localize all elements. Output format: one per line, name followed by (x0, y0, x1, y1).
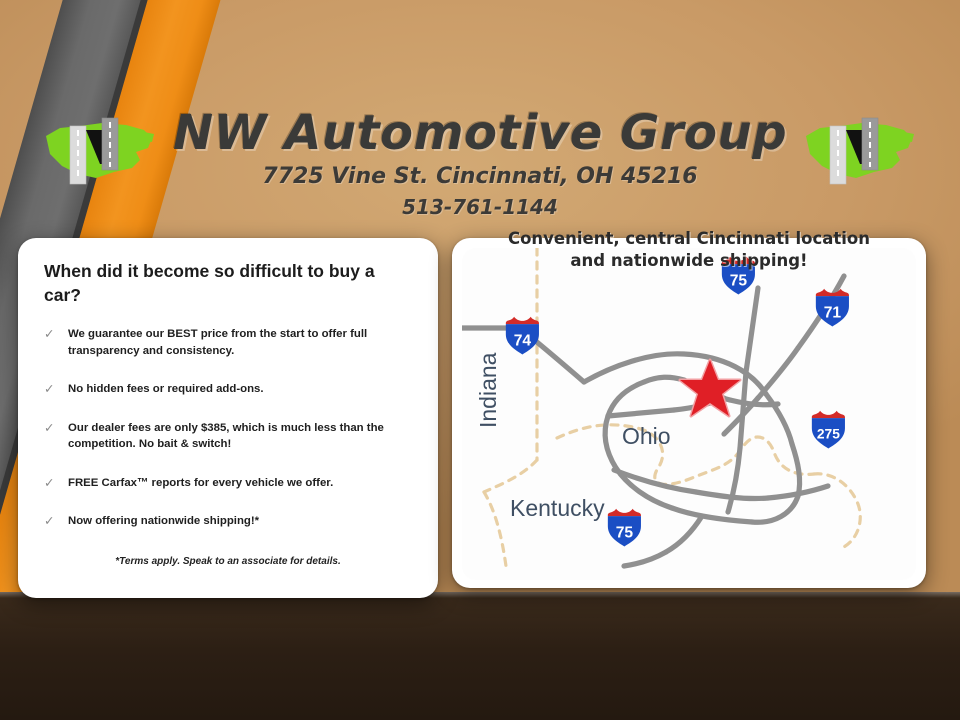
list-item-label: Our dealer fees are only $385, which is … (68, 422, 384, 451)
check-icon: ✓ (44, 474, 54, 492)
svg-text:74: 74 (514, 332, 532, 349)
list-item: ✓ Our dealer fees are only $385, which i… (38, 420, 423, 453)
check-icon: ✓ (44, 325, 54, 343)
background-lower (0, 592, 960, 720)
nw-roads-usa-logo-icon (40, 108, 158, 192)
state-label-indiana: Indiana (475, 352, 501, 428)
logo-left (40, 108, 158, 192)
nw-roads-usa-logo-icon (800, 108, 918, 192)
list-item-label: Now offering nationwide shipping!* (68, 515, 259, 527)
slide-canvas: NW Automotive Group 7725 Vine St. Cincin… (0, 0, 960, 720)
list-item: ✓ We guarantee our BEST price from the s… (38, 326, 423, 359)
benefits-list: ✓ We guarantee our BEST price from the s… (38, 326, 423, 552)
state-label-ohio: Ohio (622, 423, 671, 449)
check-icon: ✓ (44, 380, 54, 398)
pitch-heading: When did it become so difficult to buy a… (44, 260, 410, 307)
svg-text:75: 75 (616, 524, 634, 541)
check-icon: ✓ (44, 419, 54, 437)
cincinnati-map: Indiana Ohio Kentucky 75 71 275 (462, 248, 916, 580)
list-item-label: No hidden fees or required add-ons. (68, 383, 264, 395)
check-icon: ✓ (44, 512, 54, 530)
svg-text:75: 75 (730, 272, 748, 289)
logo-right (800, 108, 918, 192)
list-item-label: We guarantee our BEST price from the sta… (68, 328, 367, 357)
list-item: ✓ No hidden fees or required add-ons. (38, 381, 423, 398)
state-label-kentucky: Kentucky (510, 495, 605, 521)
svg-text:71: 71 (824, 304, 842, 321)
list-item: ✓ FREE Carfax™ reports for every vehicle… (38, 475, 423, 492)
list-item-label: FREE Carfax™ reports for every vehicle w… (68, 477, 333, 489)
svg-text:275: 275 (817, 426, 840, 441)
terms-disclaimer: *Terms apply. Speak to an associate for … (18, 556, 438, 567)
list-item: ✓ Now offering nationwide shipping!* (38, 513, 423, 530)
pitch-panel: When did it become so difficult to buy a… (18, 238, 438, 598)
